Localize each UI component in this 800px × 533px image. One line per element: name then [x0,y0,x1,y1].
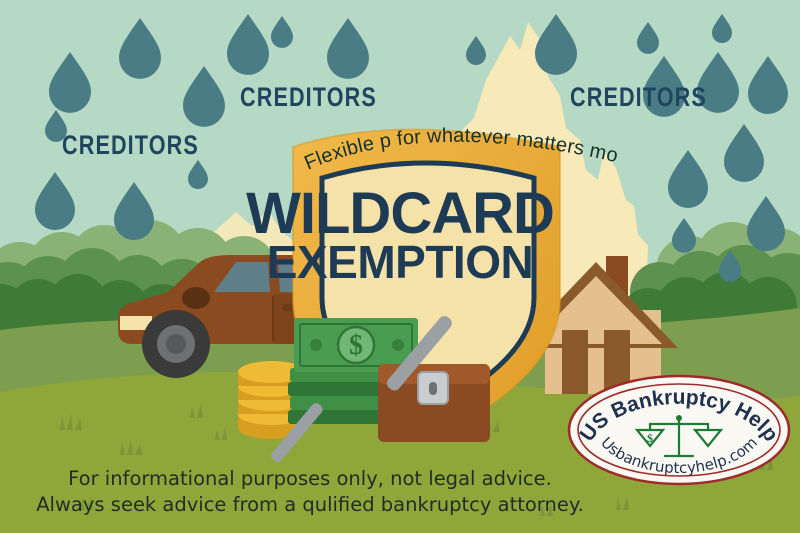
disclaimer-text: For informational purposes only, not leg… [36,466,584,517]
shield-title-line-2: EXEMPTION [190,240,610,284]
creditors-label-left: CREDITORS [62,130,199,161]
infographic-canvas: $ Flexible p for whatever matte [0,0,800,533]
logo-badge[interactable]: US Bankruptcy Help $ Usbankruptcyhelp.co… [566,374,792,486]
shield-title-line-1: WILDCARD [190,186,610,242]
dollar-sign-on-banknote: $ [349,330,363,361]
creditors-label-right: CREDITORS [570,82,707,113]
creditors-label-middle: CREDITORS [240,82,377,113]
disclaimer-line-2: seek advice from a qulified bankruptcy a… [111,493,584,516]
logo-dollar-symbol: $ [647,431,653,445]
logo-badge-graphic[interactable]: US Bankruptcy Help $ Usbankruptcyhelp.co… [566,374,792,486]
